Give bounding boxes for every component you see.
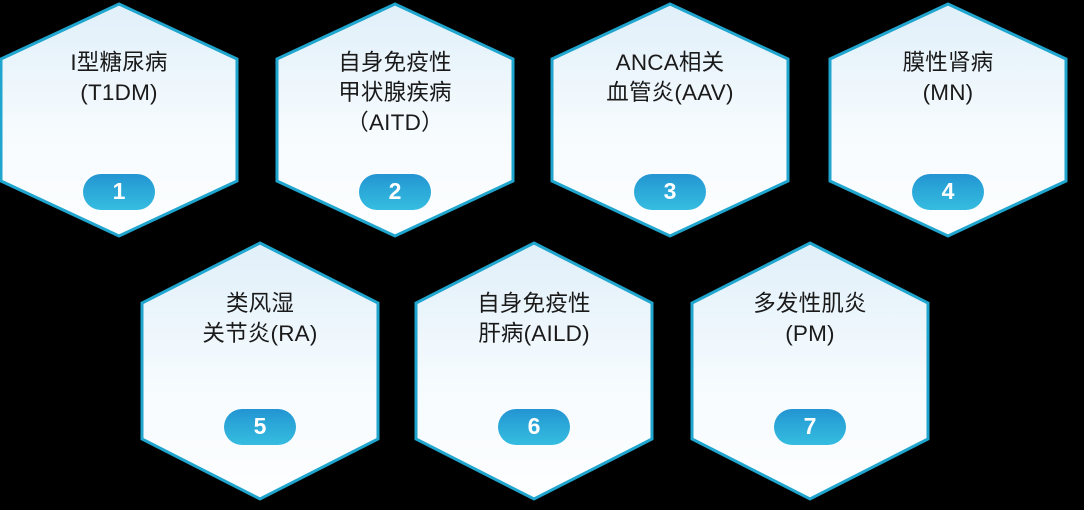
hexagon-card-4[interactable]: 膜性肾病 (MN) 4 [828,2,1068,238]
diagram-canvas: I型糖尿病 (T1DM) 1 自身免疫性 甲状腺疾病 （AITD） 2 [0,0,1084,510]
hexagon-label-5: 类风湿 关节炎(RA) [150,289,371,349]
hexagon-badge-number-3: 3 [664,180,677,203]
hexagon-card-6[interactable]: 自身免疫性 肝病(AILD) 6 [414,241,654,477]
hexagon-badge-2[interactable]: 2 [359,174,431,210]
hexagon-badge-number-1: 1 [113,180,126,203]
hexagon-label-2: 自身免疫性 甲状腺疾病 （AITD） [285,48,506,138]
hexagon-card-1[interactable]: I型糖尿病 (T1DM) 1 [0,2,239,238]
hexagon-badge-3[interactable]: 3 [634,174,706,210]
hexagon-badge-4[interactable]: 4 [912,174,984,210]
hexagon-badge-number-2: 2 [389,180,402,203]
hexagon-badge-6[interactable]: 6 [498,409,570,445]
hexagon-badge-number-4: 4 [942,180,955,203]
hexagon-card-2[interactable]: 自身免疫性 甲状腺疾病 （AITD） 2 [275,2,515,238]
hexagon-badge-number-5: 5 [254,415,267,438]
hexagon-label-1: I型糖尿病 (T1DM) [9,48,230,108]
hexagon-label-6: 自身免疫性 肝病(AILD) [424,289,645,349]
hexagon-label-7: 多发性肌炎 (PM) [700,289,921,349]
hexagon-badge-1[interactable]: 1 [83,174,155,210]
hexagon-label-3: ANCA相关 血管炎(AAV) [560,48,781,108]
hexagon-label-4: 膜性肾病 (MN) [838,48,1059,108]
hexagon-card-7[interactable]: 多发性肌炎 (PM) 7 [690,241,930,477]
hexagon-card-5[interactable]: 类风湿 关节炎(RA) 5 [140,241,380,477]
hexagon-badge-number-6: 6 [528,415,541,438]
hexagon-badge-5[interactable]: 5 [224,409,296,445]
hexagon-card-3[interactable]: ANCA相关 血管炎(AAV) 3 [550,2,790,238]
hexagon-badge-number-7: 7 [804,415,817,438]
hexagon-badge-7[interactable]: 7 [774,409,846,445]
